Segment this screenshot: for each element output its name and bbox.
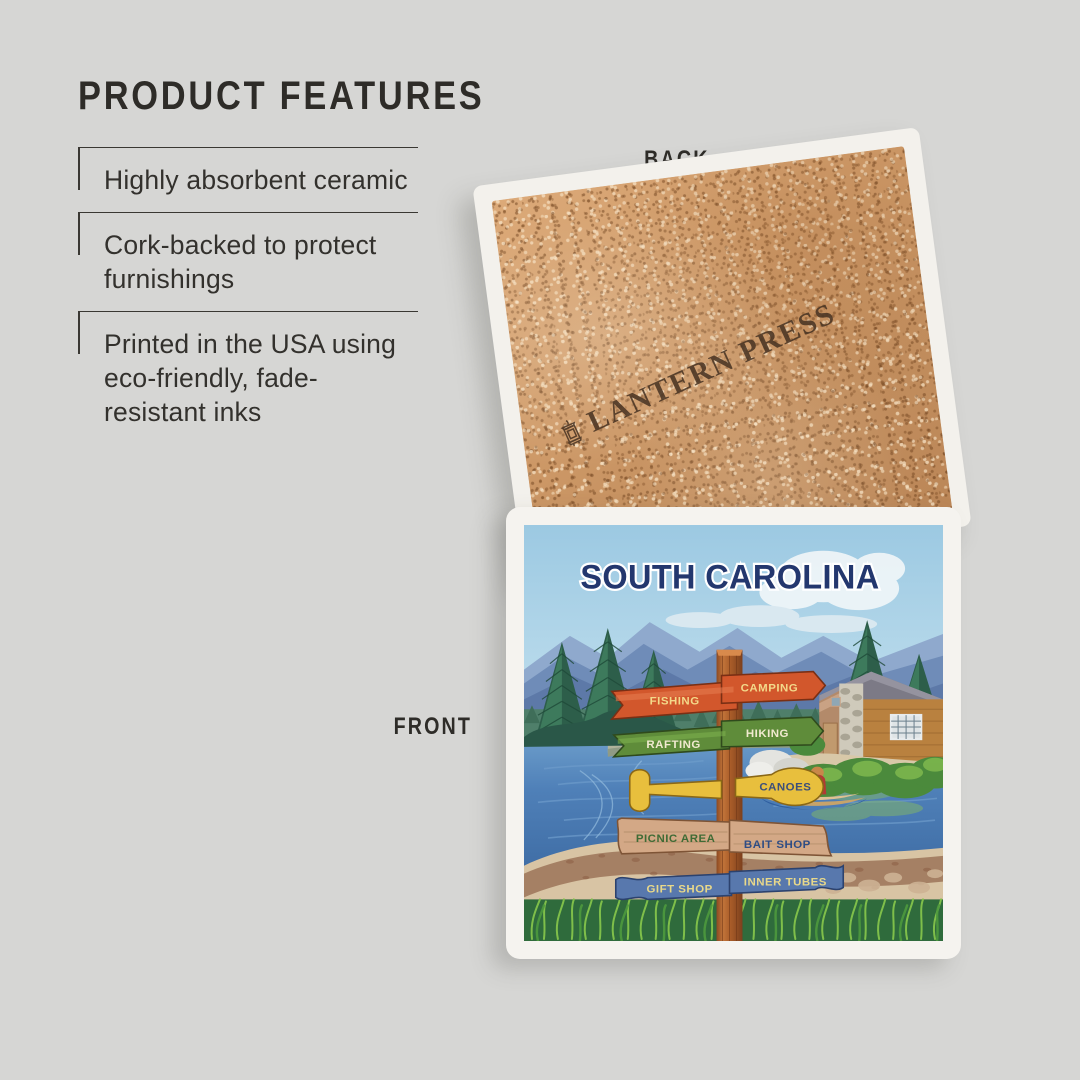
sign-label: CAMPING: [741, 682, 799, 694]
product-features-panel: PRODUCT FEATURES Highly absorbent cerami…: [78, 74, 418, 443]
feature-text: Highly absorbent ceramic: [104, 164, 418, 198]
page-title: PRODUCT FEATURES: [78, 74, 370, 119]
label-front: FRONT: [394, 713, 472, 741]
sign-label: INNER TUBES: [744, 877, 827, 889]
feature-text: Printed in the USA using eco-friendly, f…: [104, 328, 418, 430]
sign-label: PICNIC AREA: [636, 833, 716, 845]
sign-label: HIKING: [746, 728, 789, 740]
sign-label: BAIT SHOP: [744, 839, 811, 851]
sign-label: FISHING: [650, 695, 700, 707]
scene: FISHING CAMPING RAFTING HIKING: [524, 525, 943, 941]
sign-label: RAFTING: [646, 739, 700, 751]
artwork-svg: FISHING CAMPING RAFTING HIKING: [524, 525, 943, 941]
list-item: Highly absorbent ceramic: [78, 147, 418, 212]
list-item: Cork-backed to protect furnishings: [78, 212, 418, 311]
list-item: Printed in the USA using eco-friendly, f…: [78, 311, 418, 444]
artwork: FISHING CAMPING RAFTING HIKING: [524, 525, 943, 941]
artwork-title: SOUTH CAROLINA: [580, 558, 879, 596]
sign-label: GIFT SHOP: [646, 883, 712, 895]
cork-surface: LANTERN PRESS: [491, 146, 952, 566]
feature-text: Cork-backed to protect furnishings: [104, 229, 418, 297]
sign-label: CANOES: [759, 781, 811, 793]
sign-picnic-bait: PICNIC AREA BAIT SHOP: [617, 818, 831, 856]
coaster-front: FISHING CAMPING RAFTING HIKING: [506, 507, 961, 959]
